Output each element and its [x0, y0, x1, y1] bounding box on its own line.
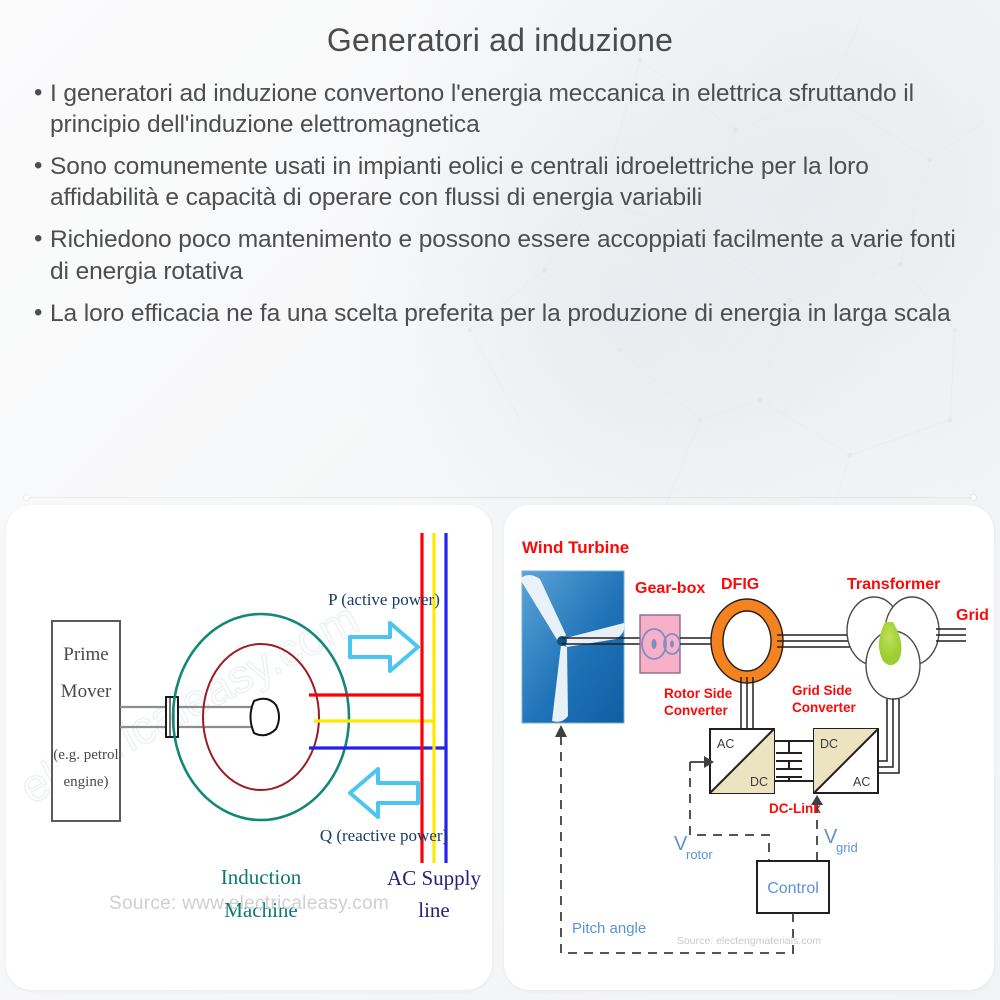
pitch-angle-arrowhead-icon: [555, 725, 567, 737]
bullet-text: I generatori ad induzione convertono l'e…: [50, 78, 969, 140]
bullet-marker-icon: •: [34, 224, 50, 254]
stator-line: [777, 635, 856, 647]
grid-line: [936, 629, 966, 641]
grid-side-converter-block: DC AC: [814, 729, 878, 793]
wind-turbine-label: Wind Turbine: [522, 538, 629, 557]
v-grid-arrowhead-icon: [811, 795, 823, 805]
slide-root: Generatori ad induzione • I generatori a…: [0, 0, 1000, 1000]
rotor-line: [741, 677, 753, 729]
bullet-list: • I generatori ad induzione convertono l…: [34, 78, 969, 340]
v-rotor-subscript: rotor: [686, 847, 713, 862]
bullet-text: Sono comunemente usati in impianti eolic…: [50, 151, 969, 213]
grid-converter-input-label: DC: [820, 737, 838, 751]
list-item: • Richiedono poco mantenimento e possono…: [34, 224, 969, 286]
bullet-text: La loro efficacia ne fa una scelta prefe…: [50, 298, 969, 329]
v-grid-subscript: grid: [836, 840, 858, 855]
grid-label: Grid: [956, 607, 989, 624]
left-diagram-source: Source: www.electricaleasy.com: [6, 893, 492, 915]
prime-mover-label-line3: (e.g. petrol: [53, 747, 118, 763]
right-diagram-source: Source: electengmaterials.com: [504, 935, 994, 947]
induction-generator-diagram: electricaleasy.com Prime Mover (e.g. pet…: [6, 505, 492, 925]
transformer-tertiary-line: [878, 699, 899, 773]
bullet-marker-icon: •: [34, 298, 50, 328]
bullet-marker-icon: •: [34, 78, 50, 108]
list-item: • I generatori ad induzione convertono l…: [34, 78, 969, 140]
active-power-label: P (active power): [328, 590, 440, 609]
list-item: • La loro efficacia ne fa una scelta pre…: [34, 298, 969, 329]
reactive-power-label: Q (reactive power): [320, 826, 448, 845]
ac-supply-busbars: [422, 533, 446, 863]
rotor-side-converter-block: AC DC: [710, 729, 774, 793]
right-diagram-card: Wind Turbine Gear-box: [504, 505, 994, 990]
rotor-side-converter-label-line2: Converter: [664, 703, 729, 718]
grid-converter-output-label: AC: [853, 775, 870, 789]
dc-link-capacitor: [774, 741, 814, 781]
reactive-power-arrow-icon: [350, 769, 418, 817]
left-diagram-card: electricaleasy.com Prime Mover (e.g. pet…: [6, 505, 492, 990]
prime-mover-label-line2: Mover: [61, 681, 112, 702]
list-item: • Sono comunemente usati in impianti eol…: [34, 151, 969, 213]
dfig-label: DFIG: [721, 576, 759, 593]
grid-side-converter-label-line1: Grid Side: [792, 683, 853, 698]
gear-box: [640, 615, 680, 673]
ac-supply-label-line1: AC Supply: [387, 866, 481, 890]
dfig-inner-ring: [723, 611, 771, 671]
phase-leads: [309, 695, 446, 748]
prime-mover-label-line4: engine): [64, 774, 109, 790]
control-label: Control: [767, 880, 819, 897]
gear-box-label: Gear-box: [635, 580, 705, 597]
rotor-side-converter-label-line1: Rotor Side: [664, 686, 733, 701]
dfig-wind-turbine-diagram: Wind Turbine Gear-box: [504, 505, 994, 965]
bullet-marker-icon: •: [34, 151, 50, 181]
prime-mover-label-line1: Prime: [63, 644, 108, 665]
grid-side-converter-label-line2: Converter: [792, 700, 857, 715]
dfig-machine: [717, 605, 777, 677]
rotor-converter-output-label: DC: [750, 775, 768, 789]
transformer-label: Transformer: [847, 576, 940, 593]
page-title: Generatori ad induzione: [0, 22, 1000, 59]
shaft-hub: [251, 699, 280, 736]
bullet-text: Richiedono poco mantenimento e possono e…: [50, 224, 969, 286]
rotor-converter-input-label: AC: [717, 737, 734, 751]
induction-machine-label-line1: Induction: [221, 865, 302, 889]
section-divider: [26, 497, 974, 498]
